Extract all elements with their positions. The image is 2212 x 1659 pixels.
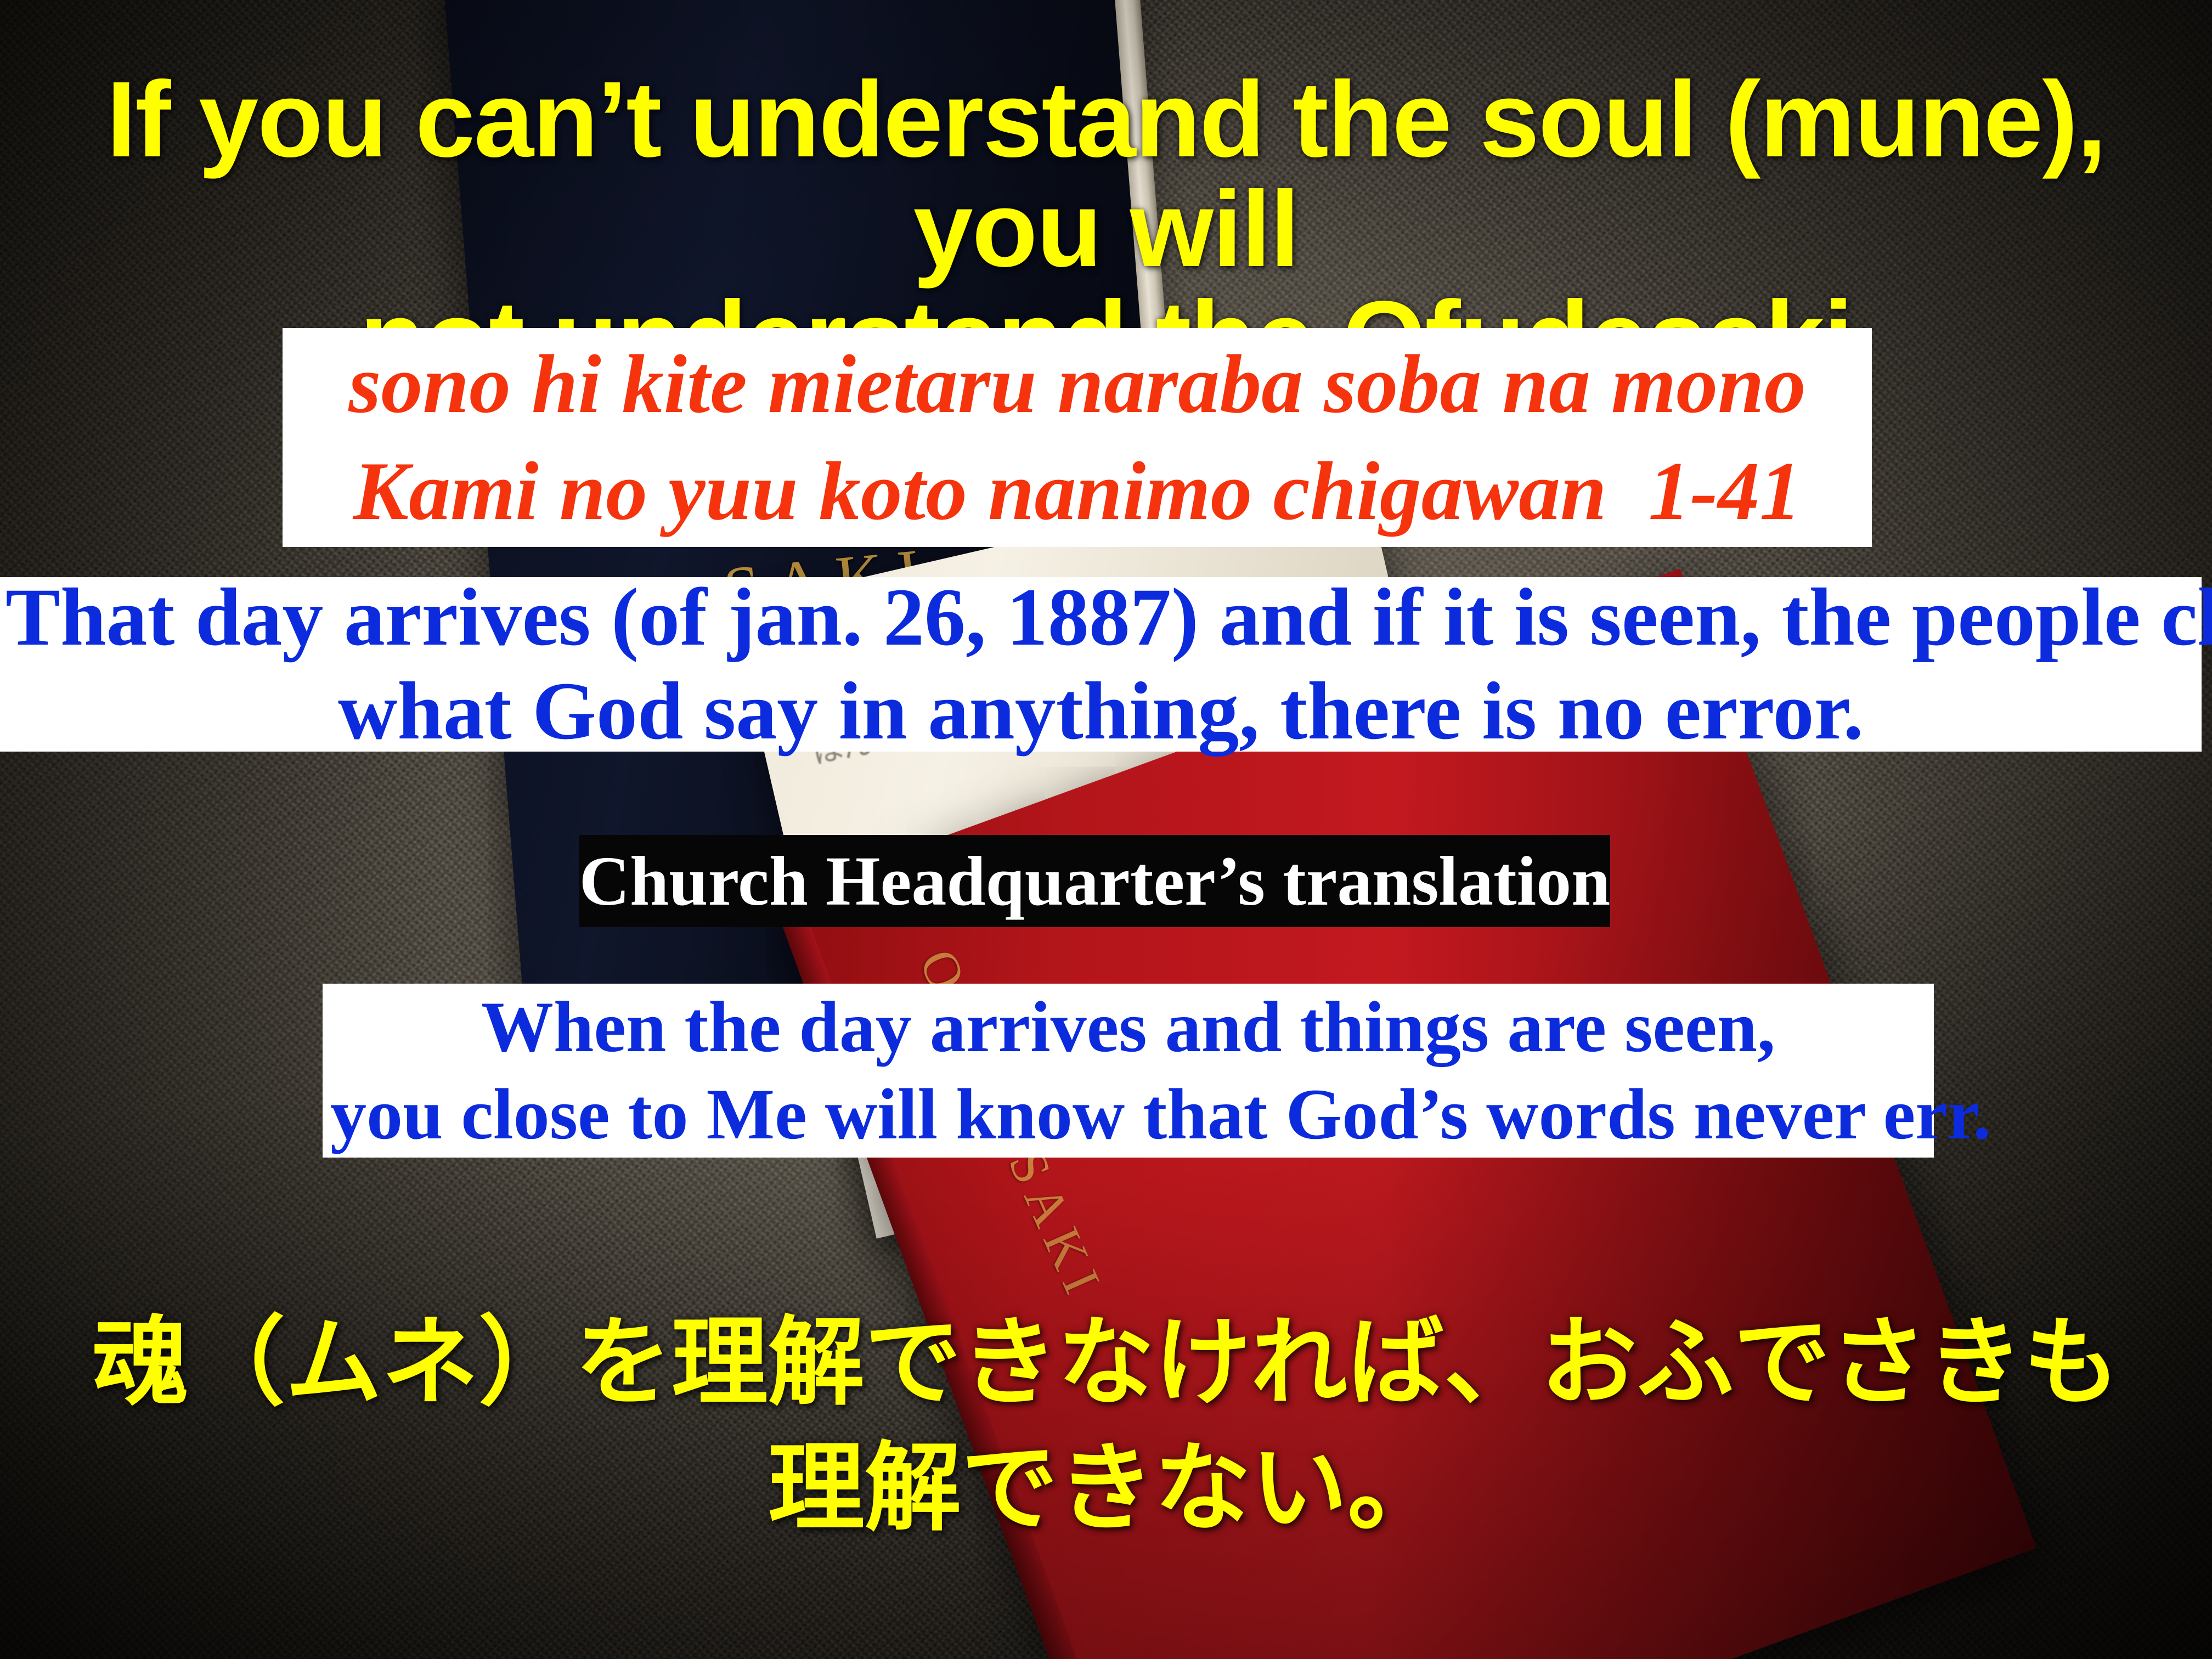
romaji-line-1: sono hi kite mietaru naraba soba na mono <box>291 331 1863 438</box>
headquarters-translation-label: Church Headquarter’s translation <box>579 846 1611 916</box>
text-overlay-layer: If you can’t understand the soul (mune),… <box>0 0 2212 1659</box>
headquarters-translation-line-2: you close to Me will know that God’s wor… <box>330 1071 1926 1158</box>
headquarters-translation-banner: Church Headquarter’s translation <box>579 835 1610 927</box>
presentation-slide: SAKI Ofude いろ いろ ほん うた OFUDESAKI OFUDE I… <box>0 0 2212 1659</box>
literal-translation-line-2: what God say in anything, there is no er… <box>5 664 2196 758</box>
literal-translation-panel: That day arrives (of jan. 26, 1887) and … <box>0 577 2202 752</box>
literal-translation-line-1: That day arrives (of jan. 26, 1887) and … <box>5 571 2196 664</box>
romaji-line-2: Kami no yuu koto nanimo chigawan 1-41 <box>291 438 1863 545</box>
slide-title-japanese: 魂（ムネ）を理解できなければ、おふでさきも 理解できない。 <box>22 1300 2190 1551</box>
romaji-verse-panel: sono hi kite mietaru naraba soba na mono… <box>283 328 1872 547</box>
headquarters-translation-panel: When the day arrives and things are seen… <box>323 984 1934 1158</box>
headquarters-translation-line-1: When the day arrives and things are seen… <box>330 984 1926 1070</box>
